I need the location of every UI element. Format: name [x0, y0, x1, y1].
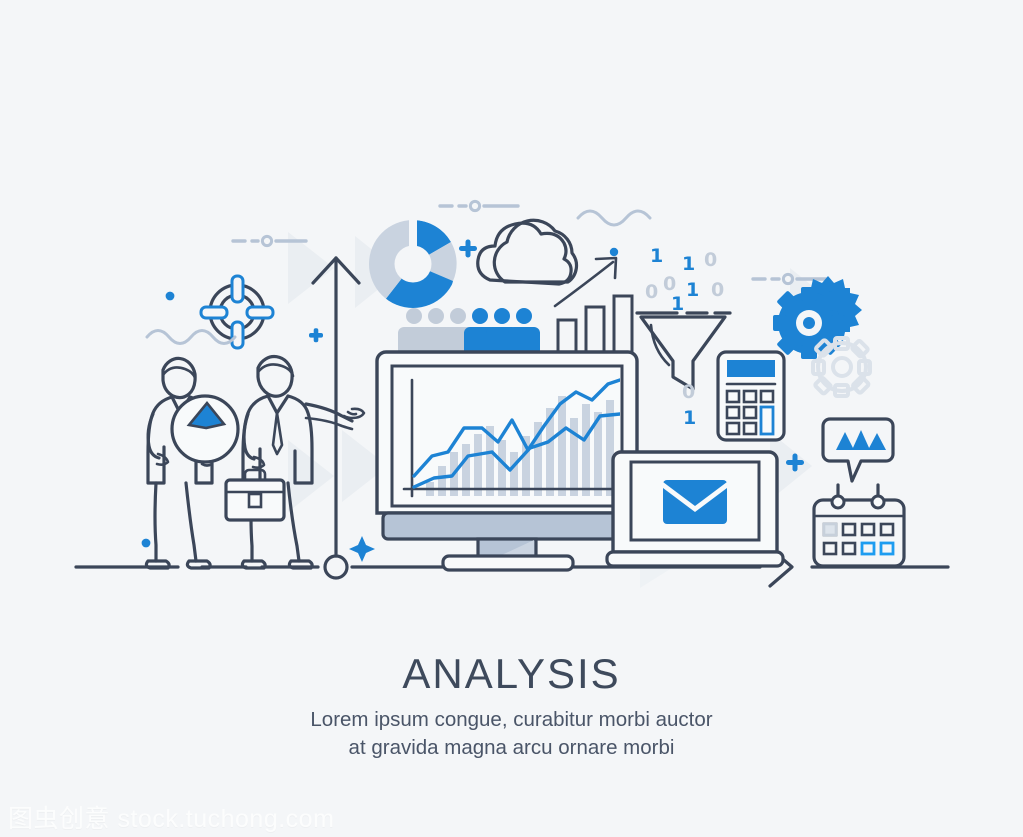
- svg-text:1: 1: [671, 293, 684, 315]
- cloud-icon: [494, 220, 576, 282]
- page-subtitle: Lorem ipsum congue, curabitur morbi auct…: [0, 706, 1023, 762]
- svg-text:0: 0: [711, 279, 724, 301]
- plus-icon: [459, 240, 477, 258]
- stock-watermark: 图虫创意 stock.tuchong.com: [8, 799, 334, 835]
- page-title: ANALYSIS: [0, 650, 1023, 698]
- dot-icon: [142, 539, 151, 548]
- businessman-with-pie-chart: [146, 358, 238, 568]
- speech-bubble-chart-icon: [823, 419, 893, 481]
- subtitle-line-2: at gravida magna arcu ornare morbi: [0, 734, 1023, 762]
- dot-icon: [610, 248, 618, 256]
- monitor-icon: [377, 352, 637, 570]
- calculator-icon: [718, 352, 784, 440]
- illustration-canvas: .ln { fill:none; stroke:#3b4659; stroke-…: [0, 0, 1023, 837]
- svg-text:1: 1: [682, 253, 695, 275]
- watermark-url-text: stock.tuchong.com: [117, 805, 334, 833]
- calendar-icon: [814, 485, 904, 566]
- svg-text:0: 0: [645, 281, 658, 303]
- envelope-icon: [663, 480, 727, 524]
- plus-icon: [309, 328, 323, 342]
- svg-text:0: 0: [663, 273, 676, 295]
- svg-text:1: 1: [650, 245, 663, 267]
- funnel-icon: [637, 313, 730, 389]
- pie-chart-icon: [172, 396, 238, 462]
- dot-icon: [166, 292, 175, 301]
- svg-text:0: 0: [704, 249, 717, 271]
- subtitle-line-1: Lorem ipsum congue, curabitur morbi auct…: [310, 708, 712, 731]
- briefcase-icon: [226, 470, 284, 520]
- svg-text:1: 1: [683, 407, 696, 429]
- watermark-chinese-text: 图虫创意: [8, 804, 110, 833]
- sparkle-icon: [349, 536, 375, 562]
- bar-chart-growth-icon: [555, 258, 632, 364]
- slider-icon: [440, 201, 518, 210]
- laptop-icon: [607, 452, 783, 566]
- wave-line-icon: [578, 211, 650, 225]
- svg-text:0: 0: [682, 381, 695, 403]
- svg-text:1: 1: [686, 279, 699, 301]
